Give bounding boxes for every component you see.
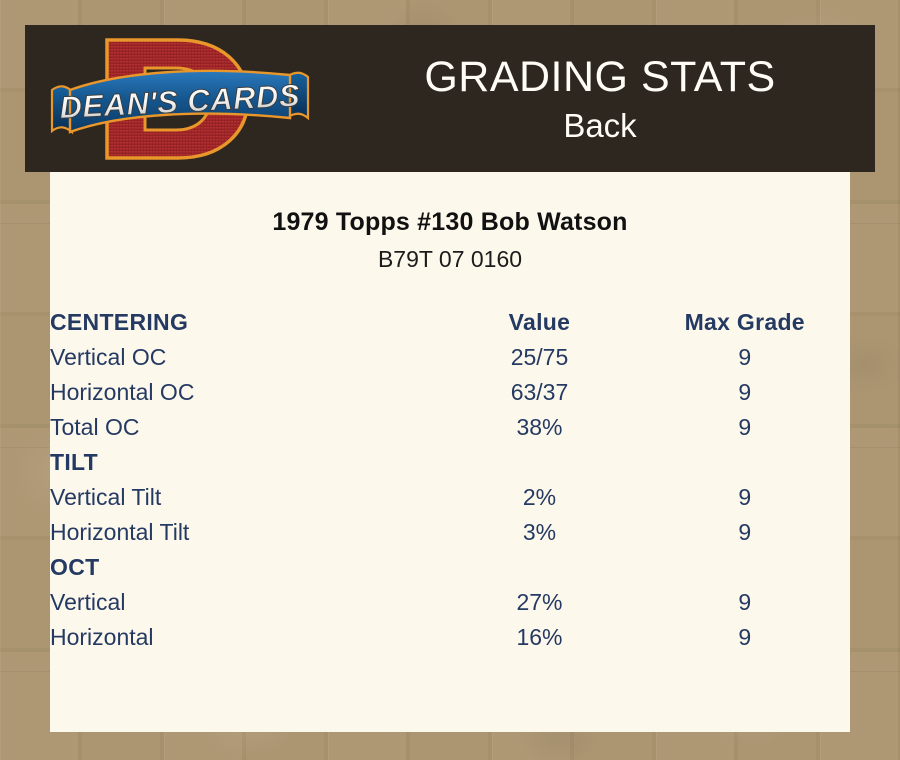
table-row: Vertical27%9 xyxy=(50,585,850,620)
stat-max-grade: 9 xyxy=(639,480,850,515)
stat-label: Total OC xyxy=(50,410,439,445)
section-title: TILT xyxy=(50,445,439,480)
column-header-value: Value xyxy=(439,305,639,340)
grading-stats-table: CENTERINGValueMax GradeVertical OC25/759… xyxy=(50,305,850,655)
stat-value: 63/37 xyxy=(439,375,639,410)
table-row: Horizontal16%9 xyxy=(50,620,850,655)
content-panel: 1979 Topps #130 Bob Watson B79T 07 0160 … xyxy=(50,172,850,732)
stat-max-grade: 9 xyxy=(639,620,850,655)
table-row: Vertical OC25/759 xyxy=(50,340,850,375)
stat-max-grade: 9 xyxy=(639,375,850,410)
section-spacer-cell xyxy=(639,445,850,480)
table-row: Horizontal Tilt3%9 xyxy=(50,515,850,550)
stat-label: Horizontal xyxy=(50,620,439,655)
stat-value: 3% xyxy=(439,515,639,550)
card-id: B79T 07 0160 xyxy=(50,246,850,273)
stat-max-grade: 9 xyxy=(639,410,850,445)
section-header-row: CENTERINGValueMax Grade xyxy=(50,305,850,340)
column-header-max-grade: Max Grade xyxy=(639,305,850,340)
page-subtitle: Back xyxy=(563,106,636,146)
section-title: OCT xyxy=(50,550,439,585)
stat-label: Horizontal Tilt xyxy=(50,515,439,550)
table-row: Vertical Tilt2%9 xyxy=(50,480,850,515)
stat-max-grade: 9 xyxy=(639,515,850,550)
stats-table-body: CENTERINGValueMax GradeVertical OC25/759… xyxy=(50,305,850,655)
section-header-row: TILT xyxy=(50,445,850,480)
stat-label: Vertical xyxy=(50,585,439,620)
stat-label: Horizontal OC xyxy=(50,375,439,410)
section-spacer-cell xyxy=(439,550,639,585)
card-title: 1979 Topps #130 Bob Watson xyxy=(50,208,850,237)
stat-max-grade: 9 xyxy=(639,585,850,620)
deans-cards-logo[interactable]: DEAN'S CARDS xyxy=(50,28,310,170)
section-spacer-cell xyxy=(639,550,850,585)
stat-value: 25/75 xyxy=(439,340,639,375)
stat-value: 16% xyxy=(439,620,639,655)
stat-value: 27% xyxy=(439,585,639,620)
table-row: Total OC38%9 xyxy=(50,410,850,445)
section-header-row: OCT xyxy=(50,550,850,585)
stat-value: 2% xyxy=(439,480,639,515)
stat-value: 38% xyxy=(439,410,639,445)
header-title-group: GRADING STATS Back xyxy=(325,25,875,172)
page-title: GRADING STATS xyxy=(424,55,775,100)
header-bar: DEAN'S CARDS GRADING STATS Back xyxy=(25,25,875,172)
stat-max-grade: 9 xyxy=(639,340,850,375)
logo-svg: DEAN'S CARDS xyxy=(50,28,310,170)
section-spacer-cell xyxy=(439,445,639,480)
stat-label: Vertical OC xyxy=(50,340,439,375)
table-row: Horizontal OC63/379 xyxy=(50,375,850,410)
stat-label: Vertical Tilt xyxy=(50,480,439,515)
section-title: CENTERING xyxy=(50,305,439,340)
